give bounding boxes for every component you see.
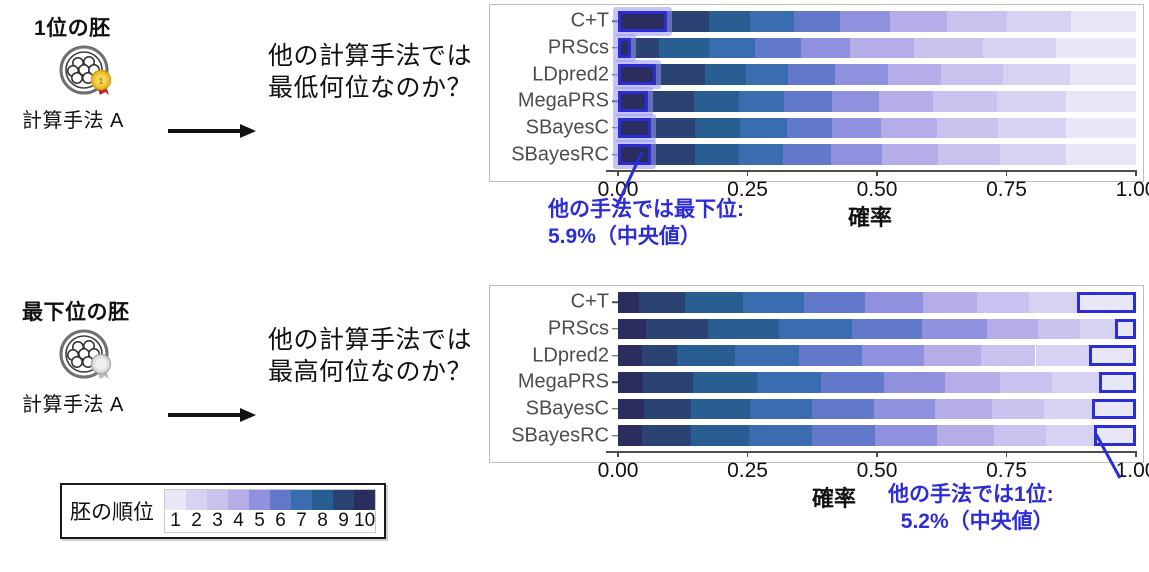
bar-row-label-LDpred2: LDpred2: [532, 344, 618, 367]
bar-segment-rank-3: [937, 118, 998, 139]
x-tick-label-0.00: 0.00: [598, 459, 639, 483]
bar-segment-rank-7: [750, 399, 812, 420]
x-tick-0.75: [1006, 451, 1008, 457]
bar-segment-rank-3: [992, 399, 1044, 420]
bar-segment-rank-4: [882, 144, 938, 165]
bar-segment-rank-9: [651, 118, 695, 139]
legend-tick-8: 8: [312, 510, 333, 532]
bar-segment-rank-2: [1052, 372, 1099, 393]
legend-swatch-row: [165, 490, 375, 510]
bar-segment-rank-4: [888, 64, 941, 85]
bar-row-label-CT: C+T: [571, 291, 618, 314]
bar-segment-rank-6: [794, 11, 841, 32]
bar-segment-rank-1: [1066, 91, 1136, 112]
highlight-box-row-1: [1115, 319, 1136, 340]
legend-embryo-rank: 胚の順位 12345678910: [60, 483, 386, 539]
bar-segment-rank-4: [879, 91, 934, 112]
bar-segment-rank-6: [821, 372, 884, 393]
panel-top-rank1: 1位の胚 1 計算手法 A 他の計算手法では 最低何位な: [16, 8, 486, 158]
bar-row: SBayesC: [618, 118, 1136, 139]
embryo-gold-graphic: 1: [56, 42, 120, 102]
bar-row: PRScs: [618, 38, 1136, 59]
bar-segment-rank-2: [1007, 11, 1071, 32]
embryo-silver-graphic: [56, 326, 120, 386]
bar-segment-rank-9: [643, 372, 693, 393]
bar-row-label-SBayesRC: SBayesRC: [511, 424, 618, 447]
bar-row: C+T: [618, 11, 1136, 32]
x-tick-label-0.75: 0.75: [986, 459, 1027, 483]
bar-segment-rank-7: [709, 38, 756, 59]
bar-segment-rank-6: [787, 118, 833, 139]
panel-top-question: 他の計算手法では 最低何位なのか？: [268, 40, 472, 104]
bar-segment-rank-3: [1000, 372, 1052, 393]
bar-segment-rank-5: [835, 64, 888, 85]
bar-segment-rank-8: [677, 345, 735, 366]
bar-row: SBayesRC: [618, 425, 1136, 446]
x-tick-label-1.00: 1.00: [1116, 178, 1149, 202]
bar-track: [618, 292, 1136, 313]
bar-segment-rank-7: [739, 91, 784, 112]
bar-segment-rank-6: [783, 144, 831, 165]
legend-tick-2: 2: [186, 510, 207, 532]
bar-row: SBayesC: [618, 399, 1136, 420]
bar-segment-rank-2: [1000, 144, 1066, 165]
bar-track: [618, 345, 1136, 366]
bar-segment-rank-4: [890, 11, 947, 32]
bar-segment-rank-4: [850, 38, 915, 59]
highlight-box-row-2: [618, 64, 656, 85]
bar-row-label-MegaPRS: MegaPRS: [518, 371, 618, 394]
svg-text:1: 1: [99, 77, 104, 86]
legend-colorscale: 12345678910: [164, 489, 376, 533]
top-chart: C+TPRScsLDpred2MegaPRSSBayesCSBayesRC: [618, 8, 1136, 168]
bar-segment-rank-7: [749, 425, 813, 446]
bar-track: [618, 118, 1136, 139]
bar-segment-rank-8: [694, 91, 739, 112]
panel-bottom-title: 最下位の胚: [22, 296, 130, 326]
legend-swatch-9: [333, 490, 354, 510]
bar-segment-rank-2: [1044, 399, 1092, 420]
bar-segment-rank-4: [881, 118, 937, 139]
bar-track: [618, 372, 1136, 393]
legend-swatch-1: [165, 490, 186, 510]
legend-tick-1: 1: [165, 510, 186, 532]
bar-segment-rank-4: [924, 345, 981, 366]
bar-track: [618, 319, 1136, 340]
bar-segment-rank-3: [933, 91, 996, 112]
bar-segment-rank-5: [862, 345, 924, 366]
bar-segment-rank-5: [832, 91, 879, 112]
x-tick-label-0.50: 0.50: [857, 178, 898, 202]
bottom-chart-xaxis: 0.000.250.500.751.00: [618, 451, 1136, 485]
bar-segment-rank-3: [977, 292, 1029, 313]
panel-bottom-last-rank: 最下位の胚 計算手法 A 他の計算手法では 最高何位なのか？: [16, 292, 486, 442]
bar-track: [618, 91, 1136, 112]
bar-segment-rank-6: [788, 64, 835, 85]
bar-track: [618, 11, 1136, 32]
bar-segment-rank-5: [801, 38, 850, 59]
bar-segment-rank-8: [693, 372, 757, 393]
x-tick-0.50: [876, 170, 878, 176]
bar-segment-rank-2: [1003, 64, 1069, 85]
bar-track: [618, 399, 1136, 420]
bottom-chart-xaxis-title: 確率: [812, 481, 856, 513]
legend-tick-3: 3: [207, 510, 228, 532]
top-callout-text: 他の手法では最下位: 5.9%（中央値）: [548, 196, 744, 251]
bar-segment-rank-10: [618, 292, 639, 313]
bar-row: MegaPRS: [618, 91, 1136, 112]
bar-track: [618, 64, 1136, 85]
bar-segment-rank-2: [997, 91, 1066, 112]
bar-segment-rank-9: [646, 319, 707, 340]
top-chart-xaxis-title: 確率: [848, 200, 892, 232]
bar-segment-rank-7: [779, 319, 852, 340]
bar-segment-rank-1: [1066, 144, 1136, 165]
x-tick-0.00: [617, 451, 619, 457]
panel-top-title: 1位の胚: [34, 12, 111, 42]
legend-tick-10: 10: [354, 510, 375, 532]
bar-segment-rank-4: [987, 319, 1038, 340]
panel-bottom-caption: 計算手法 A: [22, 388, 124, 417]
bar-segment-rank-5: [874, 399, 935, 420]
bar-segment-rank-9: [648, 91, 694, 112]
legend-swatch-2: [186, 490, 207, 510]
bar-row-label-SBayesC: SBayesC: [526, 397, 618, 420]
bar-segment-rank-7: [743, 292, 804, 313]
arrow-right-icon-top: [166, 120, 256, 144]
highlight-box-row-4: [618, 118, 651, 139]
bar-segment-rank-3: [981, 345, 1035, 366]
embryo-icon: 1: [56, 42, 120, 100]
bar-row-label-MegaPRS: MegaPRS: [518, 90, 618, 113]
bar-segment-rank-5: [922, 319, 987, 340]
bar-segment-rank-4: [935, 399, 992, 420]
x-tick-0.25: [747, 170, 749, 176]
x-tick-label-0.75: 0.75: [986, 178, 1027, 202]
bar-segment-rank-4: [923, 292, 978, 313]
bar-segment-rank-6: [784, 91, 832, 112]
bar-segment-rank-3: [941, 64, 1003, 85]
bar-segment-rank-2: [1029, 292, 1077, 313]
bar-segment-rank-8: [659, 38, 708, 59]
bar-row: PRScs: [618, 319, 1136, 340]
legend-swatch-4: [228, 490, 249, 510]
bar-segment-rank-2: [1080, 319, 1115, 340]
bar-segment-rank-10: [618, 319, 646, 340]
bar-segment-rank-4: [937, 425, 994, 446]
bar-segment-rank-7: [746, 64, 787, 85]
highlight-box-row-1: [618, 38, 631, 59]
bar-row: MegaPRS: [618, 372, 1136, 393]
bar-segment-rank-7: [757, 372, 821, 393]
bar-row-label-PRScs: PRScs: [548, 36, 618, 59]
x-tick-0.25: [747, 451, 749, 457]
bar-segment-rank-8: [685, 292, 743, 313]
legend-tick-row: 12345678910: [165, 510, 375, 532]
bar-segment-rank-8: [709, 11, 750, 32]
bar-segment-rank-1: [1071, 11, 1136, 32]
bar-segment-rank-8: [705, 64, 746, 85]
bar-segment-rank-8: [695, 118, 740, 139]
bar-segment-rank-7: [750, 11, 794, 32]
bar-segment-rank-8: [695, 144, 739, 165]
bar-segment-rank-9: [644, 399, 691, 420]
bar-segment-rank-9: [656, 64, 705, 85]
bar-track: [618, 425, 1136, 446]
x-tick-1.00: [1135, 170, 1137, 176]
bar-segment-rank-1: [1070, 64, 1136, 85]
highlight-box-row-0: [618, 11, 667, 32]
bar-segment-rank-1: [1066, 118, 1136, 139]
bar-segment-rank-4: [945, 372, 1000, 393]
legend-tick-4: 4: [228, 510, 249, 532]
panel-top-caption: 計算手法 A: [22, 104, 124, 133]
x-tick-0.75: [1006, 170, 1008, 176]
bar-track: [618, 38, 1136, 59]
highlight-box-row-3: [618, 91, 648, 112]
bar-segment-rank-6: [799, 345, 862, 366]
embryo-icon: [56, 326, 120, 384]
legend-swatch-10: [354, 490, 375, 510]
bar-row: SBayesRC: [618, 144, 1136, 165]
bottom-callout-text: 他の手法では1位: 5.2%（中央値）: [888, 481, 1054, 536]
bar-segment-rank-5: [875, 425, 937, 446]
highlight-box-row-0: [1077, 292, 1136, 313]
bar-segment-rank-7: [740, 118, 787, 139]
legend-tick-7: 7: [291, 510, 312, 532]
highlight-box-row-2: [1089, 345, 1136, 366]
bar-segment-rank-8: [708, 319, 779, 340]
bar-segment-rank-3: [947, 11, 1007, 32]
legend-title: 胚の順位: [70, 489, 164, 533]
bar-segment-rank-5: [840, 11, 890, 32]
bar-row-label-LDpred2: LDpred2: [532, 63, 618, 86]
bar-row: LDpred2: [618, 345, 1136, 366]
bar-row: LDpred2: [618, 64, 1136, 85]
bottom-callout-leader-line: [1080, 432, 1149, 482]
bar-segment-rank-3: [938, 144, 1000, 165]
legend-swatch-8: [312, 490, 333, 510]
x-tick-label-0.50: 0.50: [857, 459, 898, 483]
bar-segment-rank-3: [914, 38, 983, 59]
bar-segment-rank-6: [812, 399, 874, 420]
bottom-chart: C+TPRScsLDpred2MegaPRSSBayesCSBayesRC: [618, 289, 1136, 449]
bar-segment-rank-10: [618, 425, 642, 446]
arrow-right-icon-bottom: [166, 404, 256, 428]
bar-segment-rank-7: [739, 144, 784, 165]
bar-segment-rank-6: [852, 319, 922, 340]
panel-bottom-question: 他の計算手法では 最高何位なのか？: [268, 324, 472, 388]
bar-segment-rank-9: [642, 345, 677, 366]
bar-segment-rank-2: [983, 38, 1056, 59]
legend-tick-6: 6: [270, 510, 291, 532]
bar-row: C+T: [618, 292, 1136, 313]
bar-row-label-PRScs: PRScs: [548, 317, 618, 340]
bar-segment-rank-3: [994, 425, 1047, 446]
highlight-box-row-4: [1092, 399, 1136, 420]
legend-swatch-3: [207, 490, 228, 510]
bar-track: [618, 144, 1136, 165]
bar-segment-rank-10: [618, 399, 644, 420]
bar-segment-rank-1: [1056, 38, 1136, 59]
legend-swatch-5: [249, 490, 270, 510]
bar-segment-rank-6: [812, 425, 875, 446]
x-tick-label-0.25: 0.25: [727, 459, 768, 483]
legend-tick-5: 5: [249, 510, 270, 532]
bar-segment-rank-6: [755, 38, 801, 59]
x-tick-0.50: [876, 451, 878, 457]
legend-swatch-6: [270, 490, 291, 510]
bar-segment-rank-10: [618, 345, 642, 366]
x-tick-group: 0.000.250.500.751.00: [618, 451, 1136, 485]
bar-segment-rank-9: [639, 292, 686, 313]
bar-segment-rank-9: [642, 425, 691, 446]
bar-row-label-CT: C+T: [571, 10, 618, 33]
bar-segment-rank-5: [884, 372, 945, 393]
bar-segment-rank-8: [691, 425, 749, 446]
bar-segment-rank-7: [735, 345, 799, 366]
bar-segment-rank-2: [1036, 345, 1089, 366]
highlight-box-row-3: [1099, 372, 1136, 393]
bar-segment-rank-2: [998, 118, 1065, 139]
bar-segment-rank-3: [1038, 319, 1080, 340]
bar-segment-rank-5: [865, 292, 923, 313]
bar-segment-rank-10: [618, 372, 643, 393]
bar-segment-rank-9: [667, 11, 708, 32]
legend-swatch-7: [291, 490, 312, 510]
bar-segment-rank-6: [804, 292, 864, 313]
bar-segment-rank-5: [831, 144, 882, 165]
bar-row-label-SBayesC: SBayesC: [526, 116, 618, 139]
bar-segment-rank-8: [691, 399, 751, 420]
bar-segment-rank-5: [832, 118, 880, 139]
legend-tick-9: 9: [333, 510, 354, 532]
